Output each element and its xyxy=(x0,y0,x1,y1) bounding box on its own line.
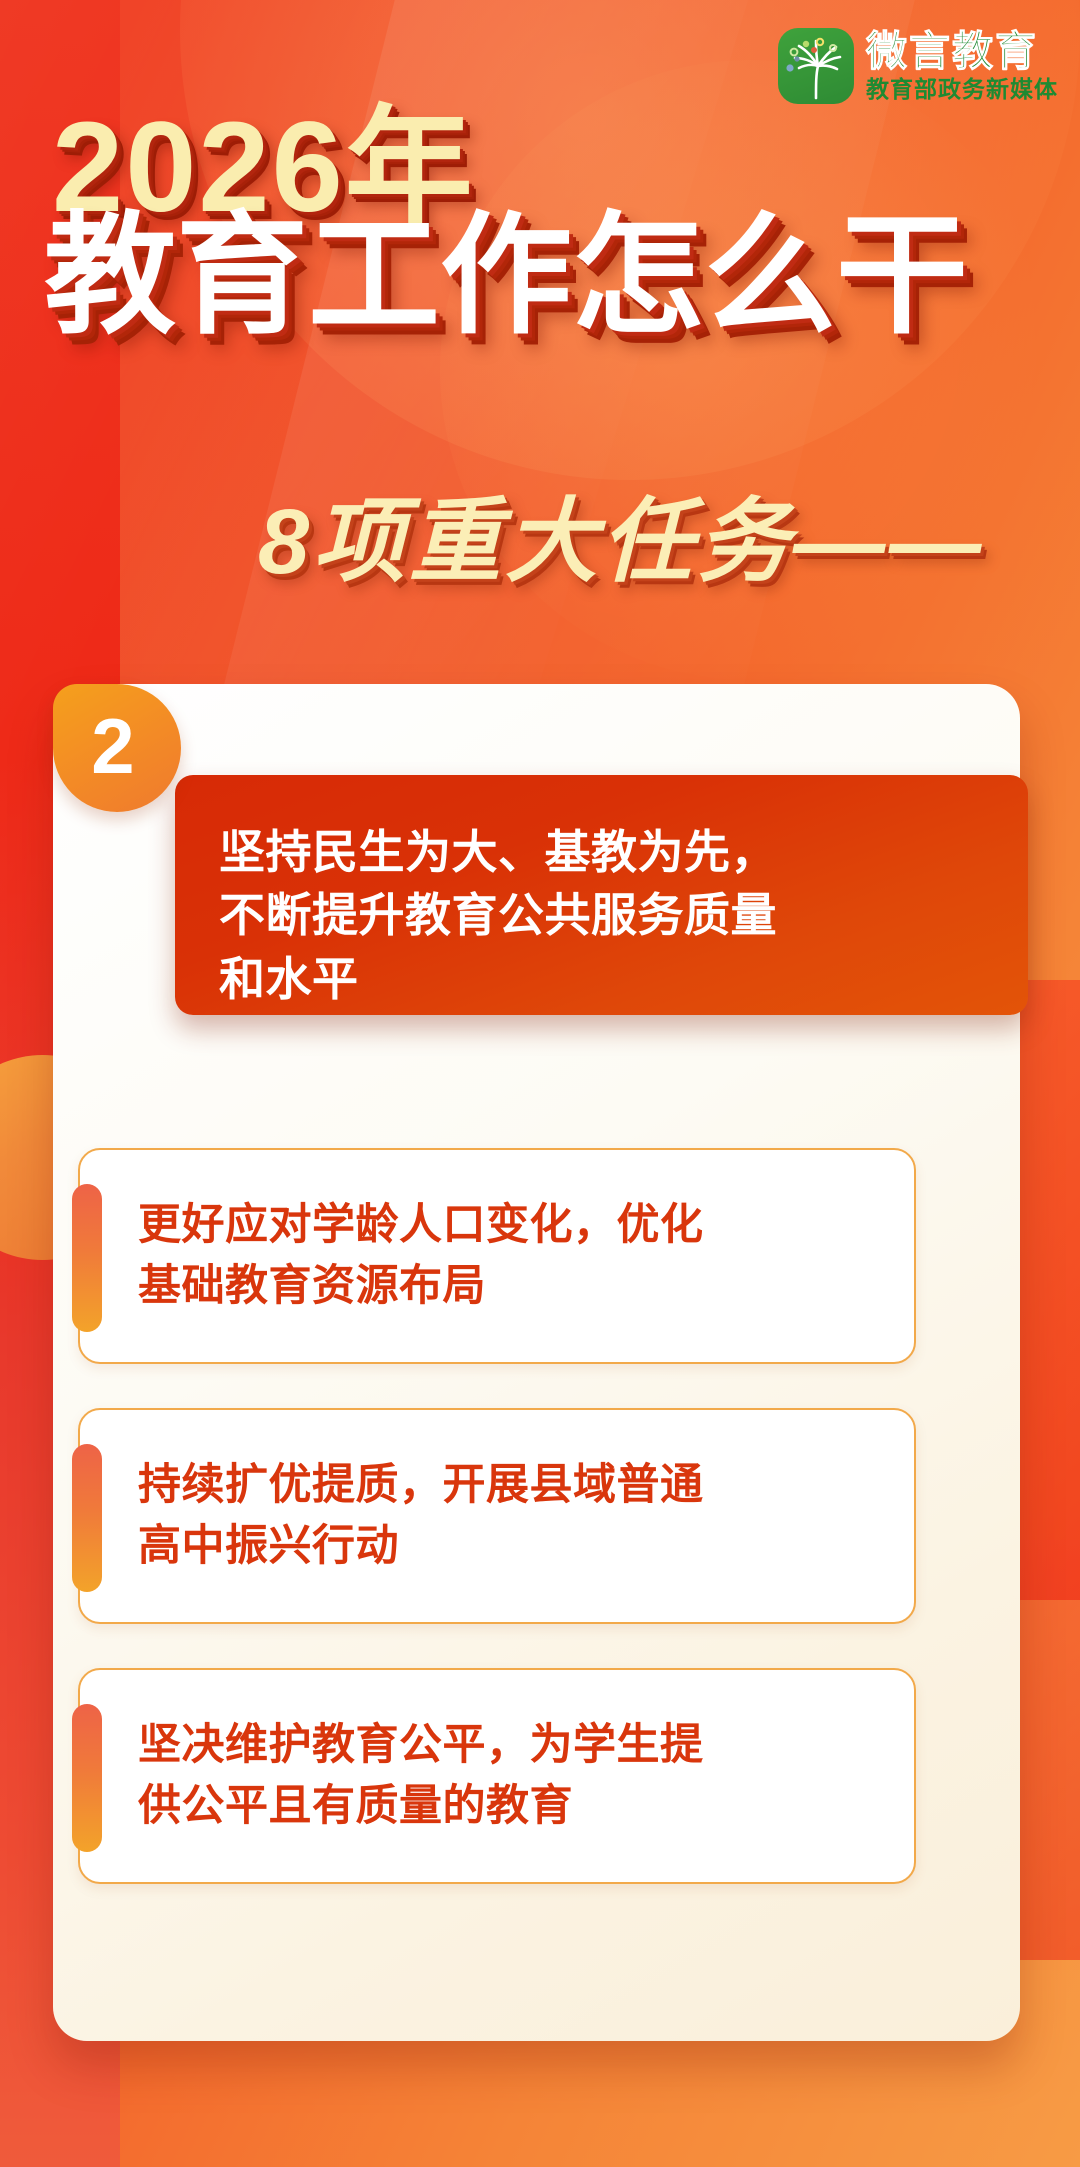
page-title: 教育工作怎么干 xyxy=(44,210,968,342)
item-accent-bar xyxy=(72,1444,102,1592)
list-item[interactable]: 坚决维护教育公平，为学生提 供公平且有质量的教育 xyxy=(78,1668,916,1884)
poster-root: 微言教育 教育部政务新媒体 2026年 教育工作怎么干 8项重大任务—— 2 坚… xyxy=(0,0,1080,2167)
item-accent-bar xyxy=(72,1184,102,1332)
item-accent-bar xyxy=(72,1704,102,1852)
brand-logo-text: 微言教育 教育部政务新媒体 xyxy=(866,31,1058,101)
section-heading-card: 坚持民生为大、基教为先， 不断提升教育公共服务质量 和水平 xyxy=(175,775,1028,1015)
brand-title: 微言教育 xyxy=(866,31,1058,72)
section-number-badge: 2 xyxy=(53,684,181,812)
task-list: 更好应对学龄人口变化，优化 基础教育资源布局 持续扩优提质，开展县域普通 高中振… xyxy=(78,1148,916,1928)
section-number: 2 xyxy=(91,707,134,785)
headline-subtitle: 8项重大任务—— xyxy=(258,496,985,588)
dandelion-logo-icon xyxy=(778,28,854,104)
brand-logo[interactable]: 微言教育 教育部政务新媒体 xyxy=(778,28,1058,104)
section-heading-text: 坚持民生为大、基教为先， 不断提升教育公共服务质量 和水平 xyxy=(219,821,1028,1011)
list-item-label: 更好应对学龄人口变化，优化 基础教育资源布局 xyxy=(138,1195,704,1317)
list-item[interactable]: 持续扩优提质，开展县域普通 高中振兴行动 xyxy=(78,1408,916,1624)
list-item-label: 持续扩优提质，开展县域普通 高中振兴行动 xyxy=(138,1455,704,1577)
list-item-label: 坚决维护教育公平，为学生提 供公平且有质量的教育 xyxy=(138,1715,704,1837)
list-item[interactable]: 更好应对学龄人口变化，优化 基础教育资源布局 xyxy=(78,1148,916,1364)
brand-subtitle: 教育部政务新媒体 xyxy=(866,78,1058,101)
